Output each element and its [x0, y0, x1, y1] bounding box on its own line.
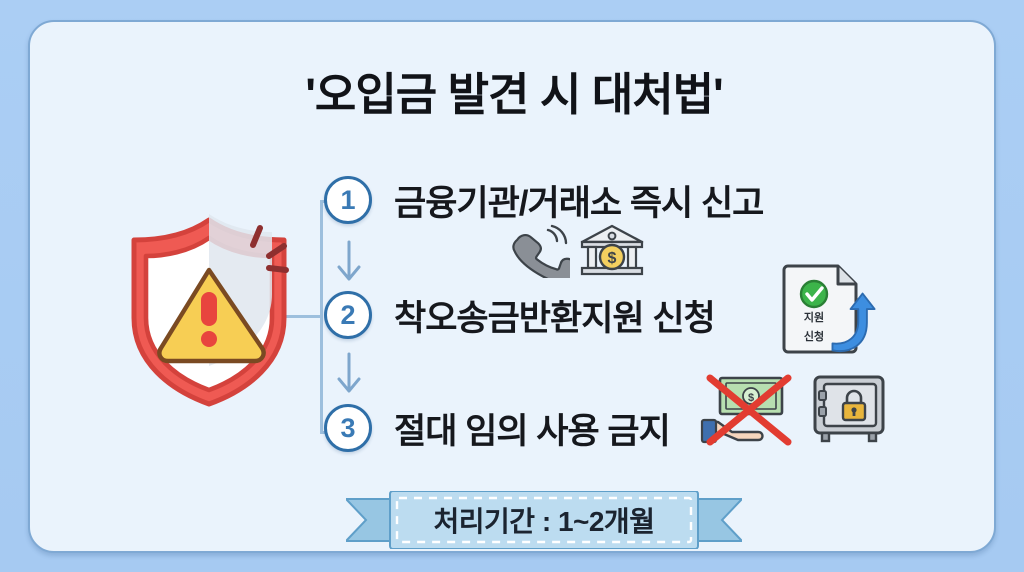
- step-label-2: 착오송금반환지원 신청: [394, 290, 715, 341]
- ringing-phone-icon: [508, 224, 570, 278]
- processing-period-text: 처리기간 : 1~2개월: [346, 491, 742, 549]
- content-card: '오입금 발견 시 대처법' 1 금융기관/거래소 즉시 신고: [28, 20, 996, 553]
- step-down-arrow-1: [334, 240, 364, 284]
- page-title: '오입금 발견 시 대처법': [30, 58, 998, 123]
- doc-line2: 신청: [804, 329, 824, 343]
- step-item-1[interactable]: 1 금융기관/거래소 즉시 신고: [324, 172, 763, 228]
- cash-in-hand-forbidden-icon: $: [700, 370, 796, 448]
- step-label-1: 금융기관/거래소 즉시 신고: [394, 175, 763, 226]
- step-number-badge-3: 3: [324, 404, 372, 452]
- step-number-badge-2: 2: [324, 291, 372, 339]
- step-number-badge-1: 1: [324, 176, 372, 224]
- step-label-3: 절대 임의 사용 금지: [394, 403, 670, 454]
- locked-safe-icon: [810, 373, 888, 445]
- shield-warning-icon: [114, 212, 304, 412]
- step-item-3[interactable]: 3 절대 임의 사용 금지: [324, 400, 670, 456]
- processing-period-banner: 처리기간 : 1~2개월: [346, 491, 742, 549]
- application-document-icon: 지원 신청: [780, 258, 886, 358]
- doc-line1: 지원: [804, 310, 824, 324]
- step-2-icon-row: 지원 신청: [780, 258, 886, 358]
- bank-dollar-icon: $: [578, 222, 646, 280]
- step-1-icon-row: $: [508, 222, 646, 280]
- step-down-arrow-2: [334, 352, 364, 396]
- step-item-2[interactable]: 2 착오송금반환지원 신청: [324, 287, 715, 343]
- step-3-icon-row: $: [700, 370, 888, 448]
- svg-text:$: $: [608, 250, 617, 267]
- infographic-canvas: '오입금 발견 시 대처법' 1 금융기관/거래소 즉시 신고: [0, 0, 1024, 572]
